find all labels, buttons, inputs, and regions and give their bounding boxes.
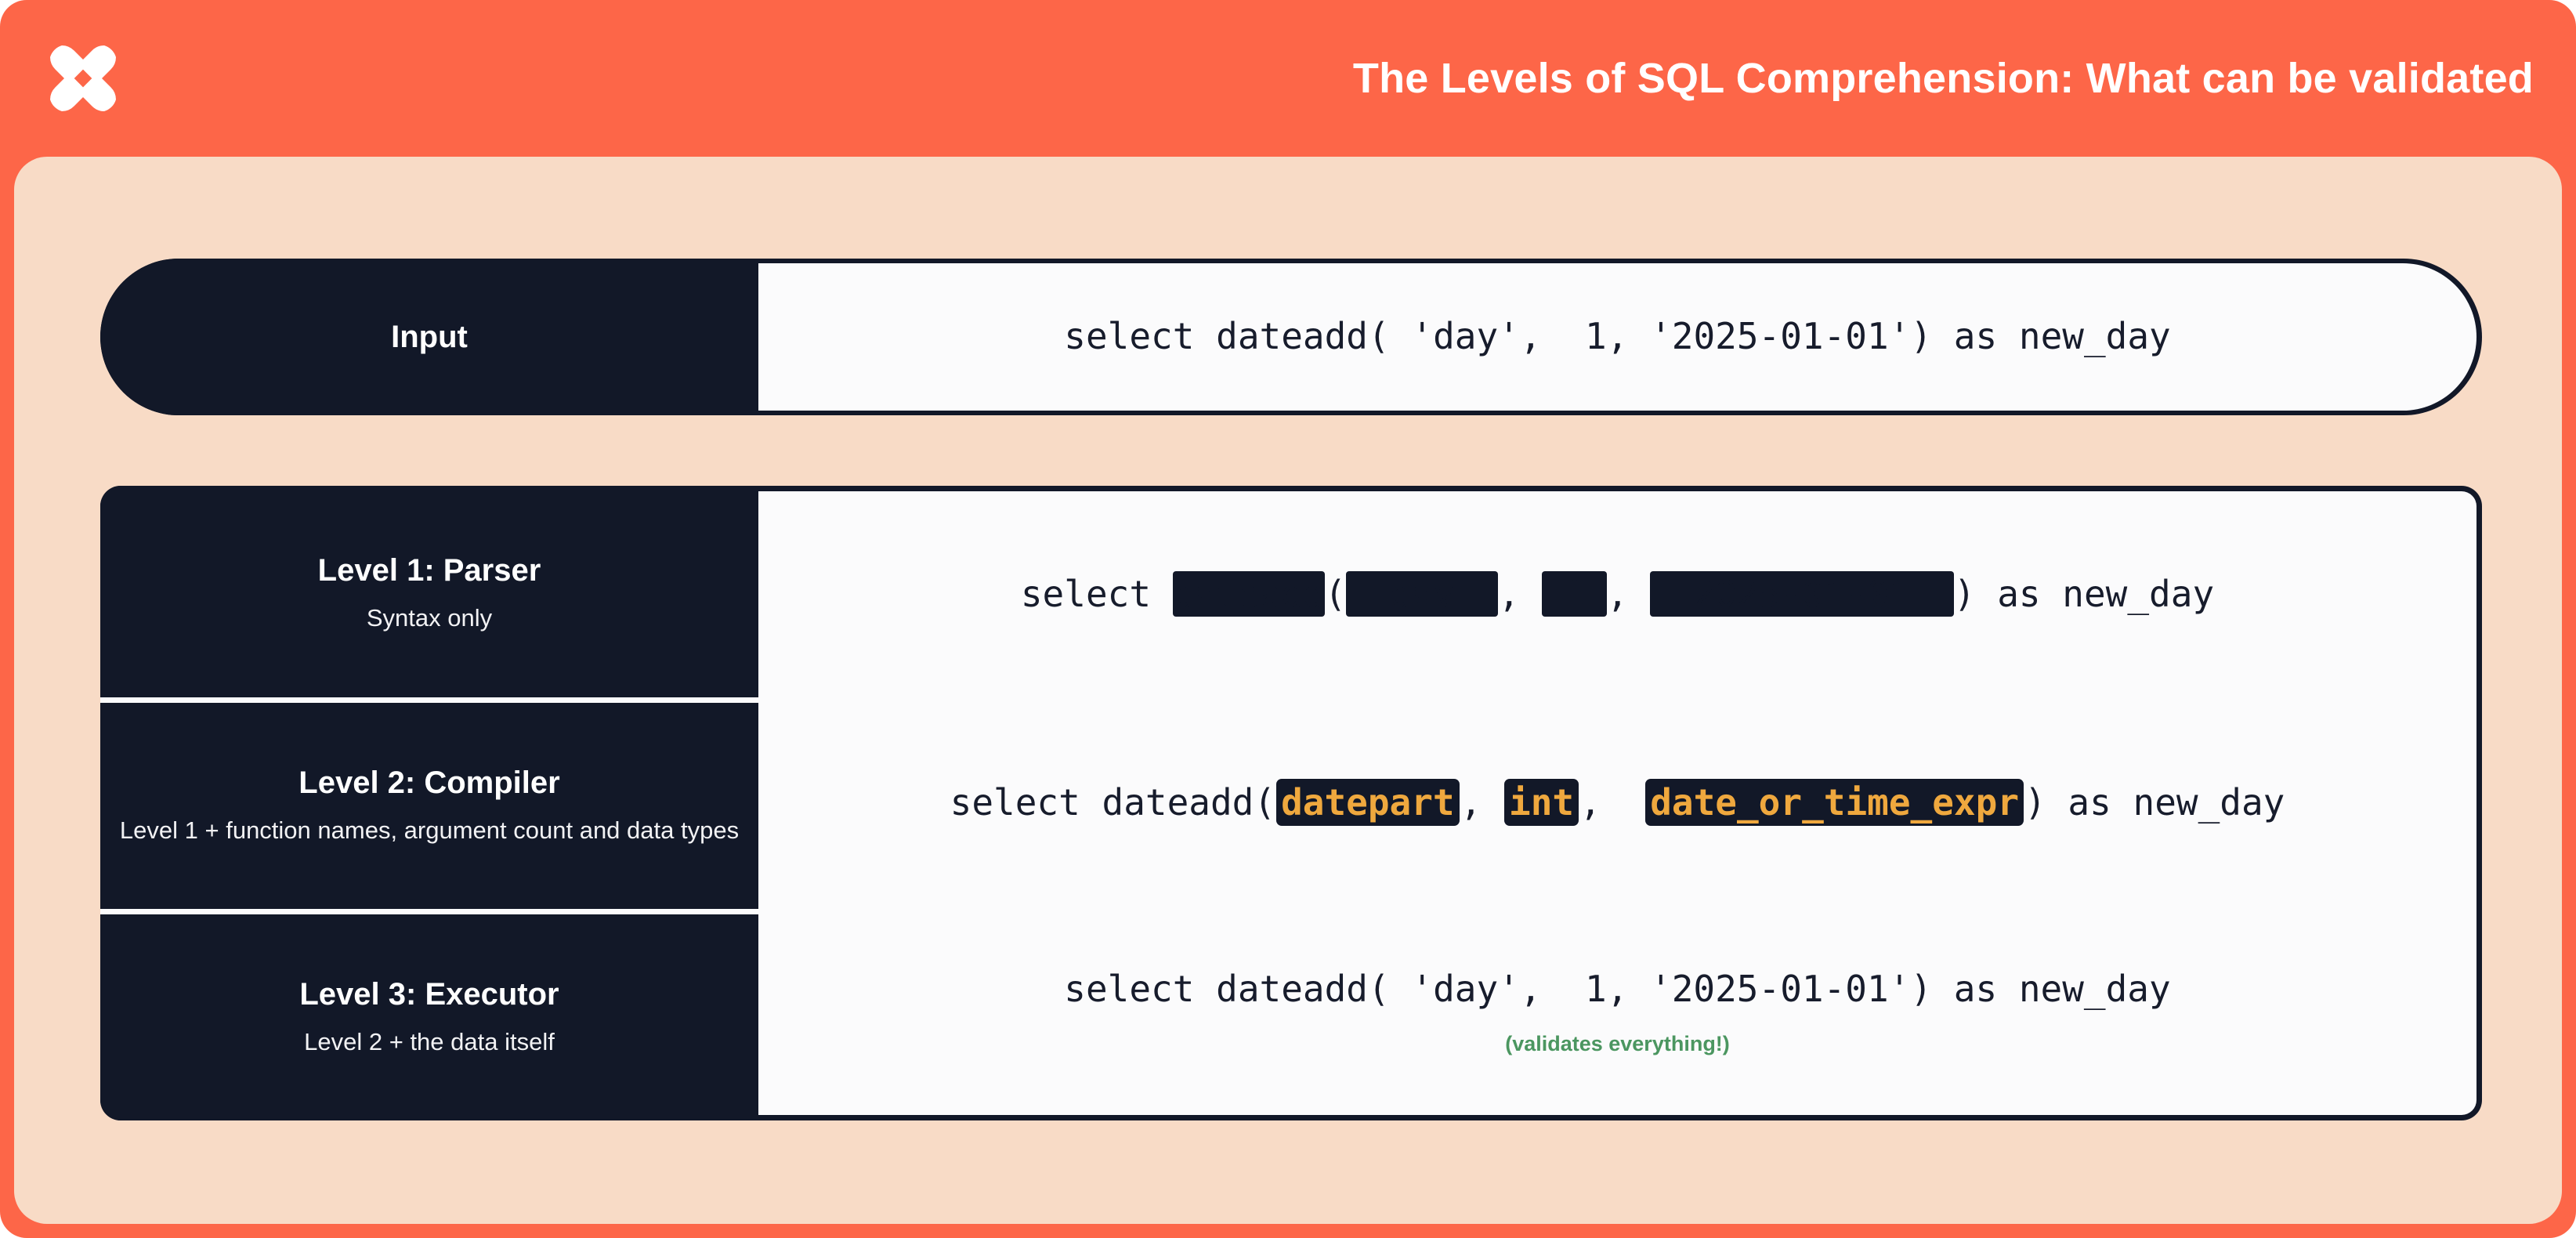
code-paren-open: (: [1368, 315, 1411, 357]
level-2-code-cell: select dateadd(datepart, int, date_or_ti…: [758, 697, 2477, 909]
level-3-code: select dateadd( 'day', 1, '2025-01-01') …: [1064, 968, 2170, 1011]
code-separator-1: ,: [1520, 315, 1585, 357]
code-paren-open: (: [1325, 573, 1347, 615]
code-keyword: select: [1021, 573, 1173, 615]
code-alias: as new_day: [2046, 781, 2285, 824]
code-type-chip-datepart: datepart: [1276, 779, 1460, 826]
code-alias: as new_day: [1932, 315, 2171, 357]
level-1-code-cell: select dateadd( 'day' , 1 , '2025-01-01'…: [758, 491, 2477, 697]
code-type-chip-int: int: [1504, 779, 1579, 826]
input-card: Input select dateadd( 'day', 1, '2025-01…: [100, 259, 2482, 415]
level-3-code-cell: select dateadd( 'day', 1, '2025-01-01') …: [758, 909, 2477, 1115]
page-title: The Levels of SQL Comprehension: What ca…: [1353, 54, 2534, 103]
level-1-subtitle: Syntax only: [367, 603, 492, 634]
code-paren-close: ): [2024, 781, 2046, 824]
level-3-note: (validates everything!): [1505, 1032, 1730, 1056]
level-1-title: Level 1: Parser: [318, 552, 541, 588]
level-1-code: select dateadd( 'day' , 1 , '2025-01-01'…: [1021, 573, 2214, 616]
code-separator-1: ,: [1498, 573, 1541, 615]
code-arg-3: '2025-01-01': [1650, 315, 1910, 357]
level-3-label-cell: Level 3: Executor Level 2 + the data its…: [100, 909, 758, 1120]
input-label: Input: [391, 319, 468, 355]
input-code: select dateadd( 'day', 1, '2025-01-01') …: [1064, 315, 2171, 358]
level-2-label-cell: Level 2: Compiler Level 1 + function nam…: [100, 697, 758, 909]
level-3-subtitle: Level 2 + the data itself: [304, 1026, 555, 1058]
code-separator-1: ,: [1460, 781, 1503, 824]
levels-card: Level 1: Parser Syntax only select datea…: [100, 486, 2482, 1120]
level-2-title: Level 2: Compiler: [298, 765, 559, 801]
level-2-code: select dateadd(datepart, int, date_or_ti…: [950, 781, 2285, 824]
body-panel: Input select dateadd( 'day', 1, '2025-01…: [14, 157, 2562, 1224]
level-2-subtitle: Level 1 + function names, argument count…: [120, 815, 739, 846]
level-2-row: Level 2: Compiler Level 1 + function nam…: [100, 697, 2482, 909]
code-arg-2: 1: [1585, 315, 1607, 357]
level-3-title: Level 3: Executor: [299, 976, 559, 1012]
code-alias: as new_day: [1976, 573, 2215, 615]
code-arg-1: 'day': [1411, 315, 1519, 357]
code-function: dateadd: [1216, 315, 1368, 357]
code-paren-close: ): [1954, 573, 1976, 615]
level-1-row: Level 1: Parser Syntax only select datea…: [100, 486, 2482, 697]
x-star-logo-icon: [36, 31, 130, 125]
code-function-redacted: dateadd: [1173, 571, 1325, 617]
input-row: Input select dateadd( 'day', 1, '2025-01…: [100, 259, 2482, 415]
infographic-frame: The Levels of SQL Comprehension: What ca…: [0, 0, 2576, 1238]
level-3-row: Level 3: Executor Level 2 + the data its…: [100, 909, 2482, 1120]
code-separator-2: ,: [1607, 573, 1650, 615]
code-arg-3-redacted: '2025-01-01': [1650, 571, 1954, 617]
code-paren-close: ): [1910, 315, 1932, 357]
code-keyword: select dateadd(: [950, 781, 1275, 824]
code-type-chip-date-or-time-expr: date_or_time_expr: [1645, 779, 2024, 826]
header-bar: The Levels of SQL Comprehension: What ca…: [0, 0, 2576, 157]
level-1-label-cell: Level 1: Parser Syntax only: [100, 486, 758, 697]
code-separator-2: ,: [1607, 315, 1650, 357]
code-keyword: select: [1064, 315, 1216, 357]
code-arg-2-redacted: 1: [1542, 571, 1607, 617]
input-code-cell: select dateadd( 'day', 1, '2025-01-01') …: [758, 263, 2477, 411]
code-arg-1-redacted: 'day': [1346, 571, 1498, 617]
input-label-cell: Input: [100, 259, 758, 415]
code-separator-2: ,: [1579, 781, 1644, 824]
